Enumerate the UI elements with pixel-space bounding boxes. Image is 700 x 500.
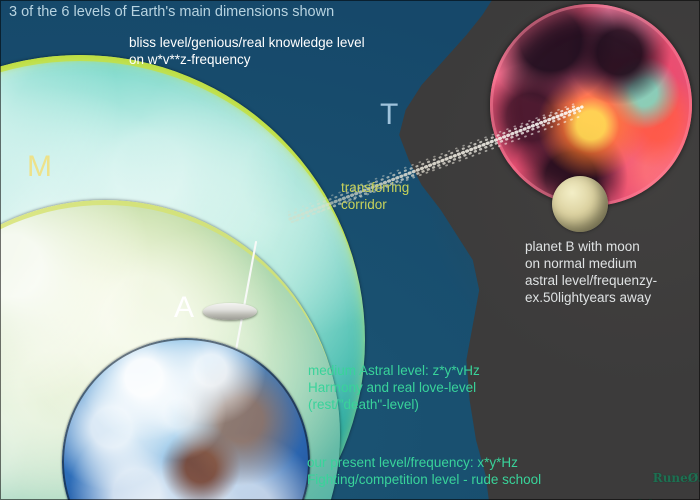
annotation-transferring-corridor: transferring corridor <box>341 180 409 214</box>
false-colour-planet-b <box>490 4 692 206</box>
level-label-a: A <box>174 293 194 323</box>
level-label-m: M <box>27 152 52 182</box>
white-disc-craft <box>203 303 257 320</box>
annotation-bliss-level: bliss level/genious/real knowledge level… <box>129 35 365 69</box>
annotation-present-level: our present level/frequency: x*y*Hz Figh… <box>307 455 541 489</box>
artist-signature: RuneØ. feb06 <box>636 458 700 500</box>
moon-of-planet-b <box>552 176 608 232</box>
signature-name: RuneØ. <box>653 471 700 485</box>
level-label-t: T <box>380 100 398 130</box>
annotation-planet-b: planet B with moon on normal medium astr… <box>525 239 657 307</box>
planet-b-limb-glow <box>490 4 692 206</box>
illustration-canvas: 3 of the 6 levels of Earth's main dimens… <box>0 0 700 500</box>
annotation-medium-astral-level: medium Astral level: z*y*vHz Harmony and… <box>308 363 480 414</box>
page-title: 3 of the 6 levels of Earth's main dimens… <box>9 3 334 21</box>
